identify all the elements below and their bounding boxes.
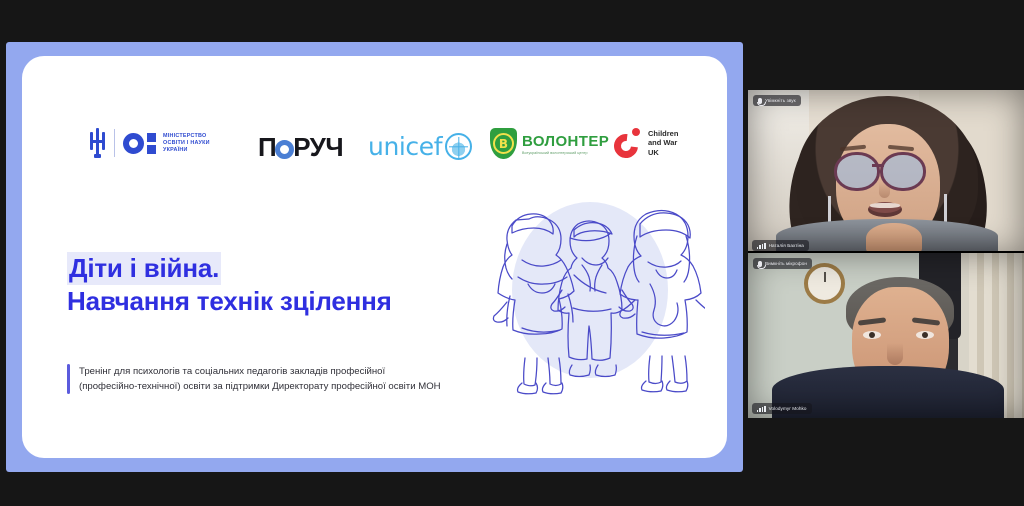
wall-clock: [804, 263, 845, 304]
ministry-of-education-logo: МІНІСТЕРСТВО ОСВІТИ І НАУКИ УКРАЇНИ: [90, 128, 210, 158]
slide-title-line-1: Діти і війна.: [67, 252, 221, 285]
unicef-logo-text: unicef: [368, 132, 442, 161]
slide-subtitle: Тренінг для психологів та соціальних пед…: [67, 364, 567, 394]
signal-strength-icon: [757, 406, 766, 412]
slide-title: Діти і війна. Навчання технік зцілення: [67, 252, 487, 318]
mon-emblem-icon: [123, 133, 156, 154]
poruch-ring-icon: [275, 140, 294, 159]
participant-2-status-text: Вимкніть мікрофон: [765, 261, 807, 266]
microphone-icon: [758, 98, 762, 104]
participant-tile-1[interactable]: Увімкніть звук Наталія Бахтіна: [748, 90, 1024, 255]
participant-1-name: Наталія Бахтіна: [769, 243, 804, 248]
children-and-war-logo-text: Children and War UK: [648, 129, 678, 157]
signal-strength-icon: [757, 243, 766, 249]
volonter-shield-icon: В: [490, 128, 517, 159]
participant-tile-2[interactable]: Вимкніть мікрофон Volodymyr Mohko: [748, 253, 1024, 418]
volonter-logo-text: ВОЛОНТЕР Всеукраїнський волонтерський це…: [522, 133, 609, 155]
slide-subtitle-line-1: Тренінг для психологів та соціальних пед…: [79, 364, 441, 379]
tile-divider: [748, 251, 1024, 253]
participant-2-name-tag: Volodymyr Mohko: [752, 403, 812, 414]
children-illustration: [470, 180, 705, 395]
children-and-war-uk-logo: Children and War UK: [614, 128, 678, 158]
participant-1-status-badge[interactable]: Увімкніть звук: [753, 95, 801, 106]
volonter-logo: В ВОЛОНТЕР Всеукраїнський волонтерський …: [490, 128, 609, 159]
slide-title-line-2: Навчання технік зцілення: [67, 285, 487, 318]
unicef-logo: unicef: [368, 132, 472, 161]
ministry-logo-text: МІНІСТЕРСТВО ОСВІТИ І НАУКИ УКРАЇНИ: [163, 133, 210, 154]
poruch-logo-text: ПРУЧ: [258, 132, 343, 163]
unicef-globe-icon: [445, 133, 472, 160]
ukraine-trident-icon: [90, 128, 105, 158]
participant-2-name: Volodymyr Mohko: [769, 406, 807, 411]
participant-1-name-tag: Наталія Бахтіна: [752, 240, 809, 251]
subtitle-accent-bar: [67, 364, 70, 394]
presentation-slide: МІНІСТЕРСТВО ОСВІТИ І НАУКИ УКРАЇНИ ПРУЧ…: [22, 56, 727, 458]
children-and-war-c-icon: [614, 128, 642, 158]
logo-divider: [114, 129, 115, 157]
poruch-logo: ПРУЧ: [258, 132, 343, 163]
screen-share-region: МІНІСТЕРСТВО ОСВІТИ І НАУКИ УКРАЇНИ ПРУЧ…: [6, 42, 743, 472]
meeting-window: МІНІСТЕРСТВО ОСВІТИ І НАУКИ УКРАЇНИ ПРУЧ…: [0, 0, 1024, 506]
partner-logo-row: МІНІСТЕРСТВО ОСВІТИ І НАУКИ УКРАЇНИ ПРУЧ…: [22, 122, 727, 170]
participant-1-video: [748, 90, 1024, 255]
participant-2-status-badge[interactable]: Вимкніть мікрофон: [753, 258, 812, 269]
slide-subtitle-line-2: (професійно-технічної) освіти за підтрим…: [79, 379, 441, 394]
participant-2-video: [748, 253, 1024, 418]
microphone-icon: [758, 261, 762, 267]
participant-1-status-text: Увімкніть звук: [765, 98, 796, 103]
